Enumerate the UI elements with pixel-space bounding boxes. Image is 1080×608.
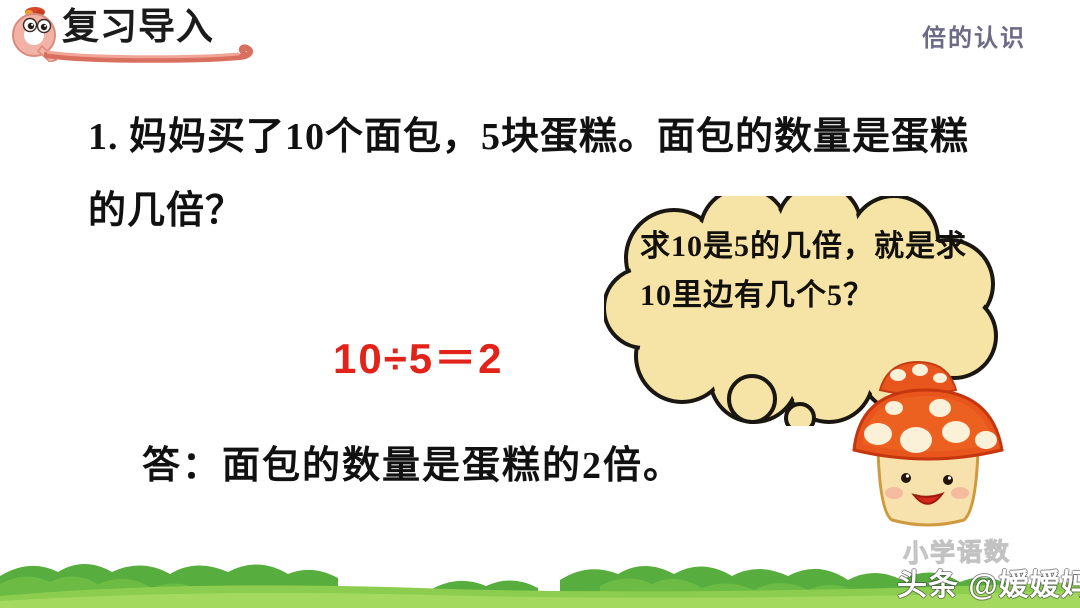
answer-text: 答：面包的数量是蛋糕的2倍。 [142, 434, 683, 489]
slide-canvas: 复习导入 倍的认识 1. 妈妈买了10个面包，5块蛋糕。面包的数量是蛋糕的几倍？… [0, 0, 1080, 608]
underline-swoosh-icon [44, 40, 259, 64]
mushroom-characters [848, 358, 1008, 533]
topic-label: 倍的认识 [922, 18, 1026, 53]
equation-text: 10÷5＝2 [333, 325, 504, 386]
mushroom-character-icon [854, 390, 1002, 525]
thought-bubble-text: 求10是5的几倍，就是求10里边有几个5？ [640, 222, 970, 320]
slide-header: 复习导入 倍的认识 [0, 0, 1080, 72]
channel-watermark: 头条 @嫒嫒妈 [897, 560, 1080, 604]
